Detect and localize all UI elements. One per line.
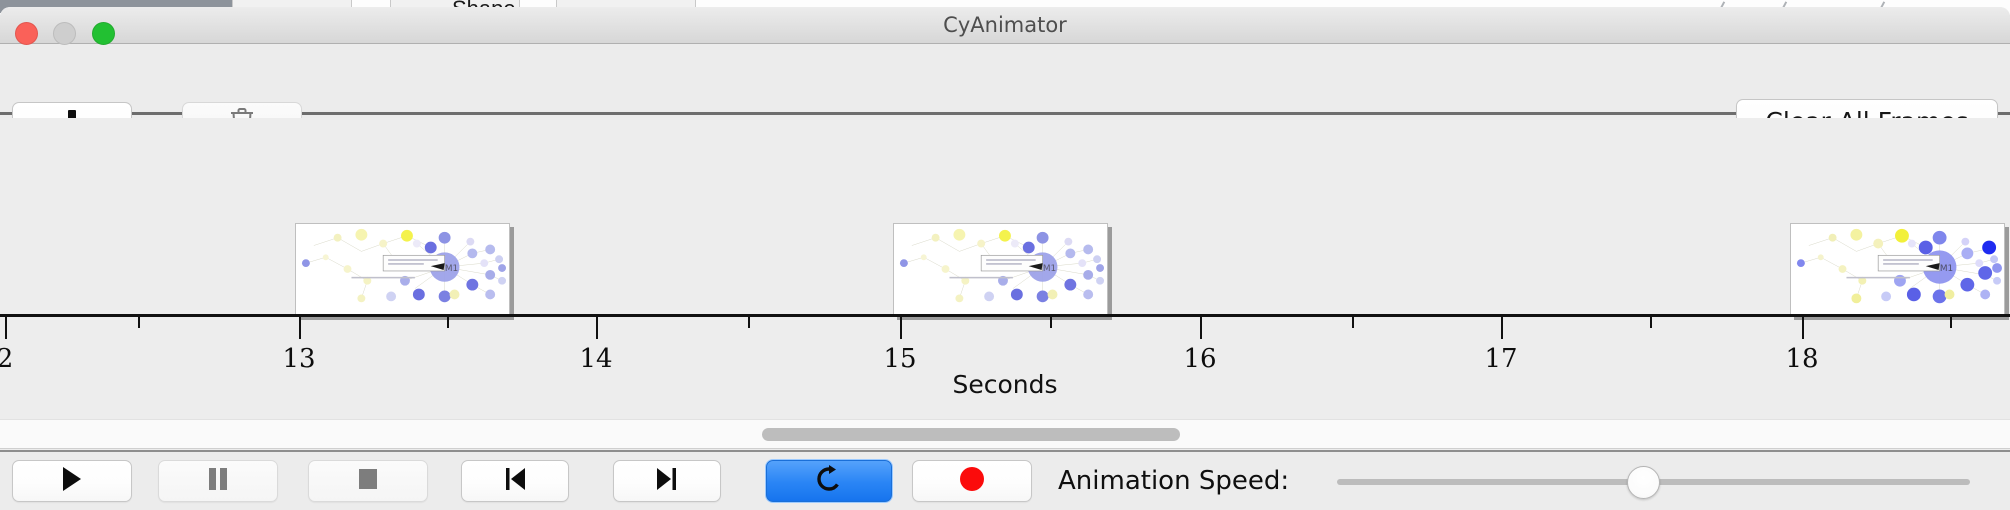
ruler-tick-major [1802, 317, 1804, 339]
ruler-tick-minor [1650, 317, 1652, 328]
ruler-tick-minor [748, 317, 750, 328]
ruler-tick-minor [1950, 317, 1952, 328]
axis-title-seconds: Seconds [0, 370, 2010, 399]
playback-control-bar: Animation Speed: [0, 450, 2010, 510]
cyanimator-window: CyAnimator Clear All Frames [0, 7, 2010, 510]
record-icon [958, 465, 986, 498]
ruler-tick-major [900, 317, 902, 339]
play-button[interactable] [12, 460, 132, 502]
ruler-tick-major [1501, 317, 1503, 339]
keyframe-thumbnail[interactable]: MCM1 [295, 223, 510, 316]
timeline-panel[interactable]: MCM1 [0, 118, 2010, 425]
window-titlebar[interactable]: CyAnimator [0, 7, 2010, 44]
window-title: CyAnimator [0, 7, 2010, 43]
skip-start-icon [502, 465, 528, 498]
keyframes-track[interactable]: MCM1 [0, 118, 2010, 318]
skip-to-end-button[interactable] [613, 460, 721, 502]
cyanimator-screenshot: Shape CyAnimator [0, 0, 2010, 510]
pause-button[interactable] [158, 460, 278, 502]
scrollbar-thumb[interactable] [762, 428, 1180, 441]
loop-button[interactable] [766, 460, 892, 502]
loop-icon [814, 464, 844, 499]
ruler-tick-minor [1050, 317, 1052, 328]
ruler-tick-major [596, 317, 598, 339]
ruler-tick-minor [138, 317, 140, 328]
ruler-baseline [0, 314, 2010, 317]
play-icon [60, 465, 84, 498]
animation-speed-label: Animation Speed: [1058, 466, 1289, 496]
stop-icon [356, 465, 380, 498]
ruler-tick-minor [447, 317, 449, 328]
pause-icon [206, 465, 230, 498]
keyframe-thumbnail[interactable]: MCM1 [893, 223, 1108, 316]
ruler-tick-major [1200, 317, 1202, 339]
record-button[interactable] [912, 460, 1032, 502]
ruler-tick-minor [1352, 317, 1354, 328]
keyframe-thumbnail[interactable]: MCM1 [1790, 223, 2005, 316]
skip-to-start-button[interactable] [461, 460, 569, 502]
stop-button[interactable] [308, 460, 428, 502]
skip-end-icon [654, 465, 680, 498]
frame-toolbar: Clear All Frames [0, 45, 2010, 115]
ruler-tick-major [299, 317, 301, 339]
animation-speed-slider-thumb[interactable] [1627, 466, 1660, 499]
timeline-horizontal-scrollbar[interactable] [0, 419, 2010, 449]
ruler-tick-major [5, 317, 7, 339]
